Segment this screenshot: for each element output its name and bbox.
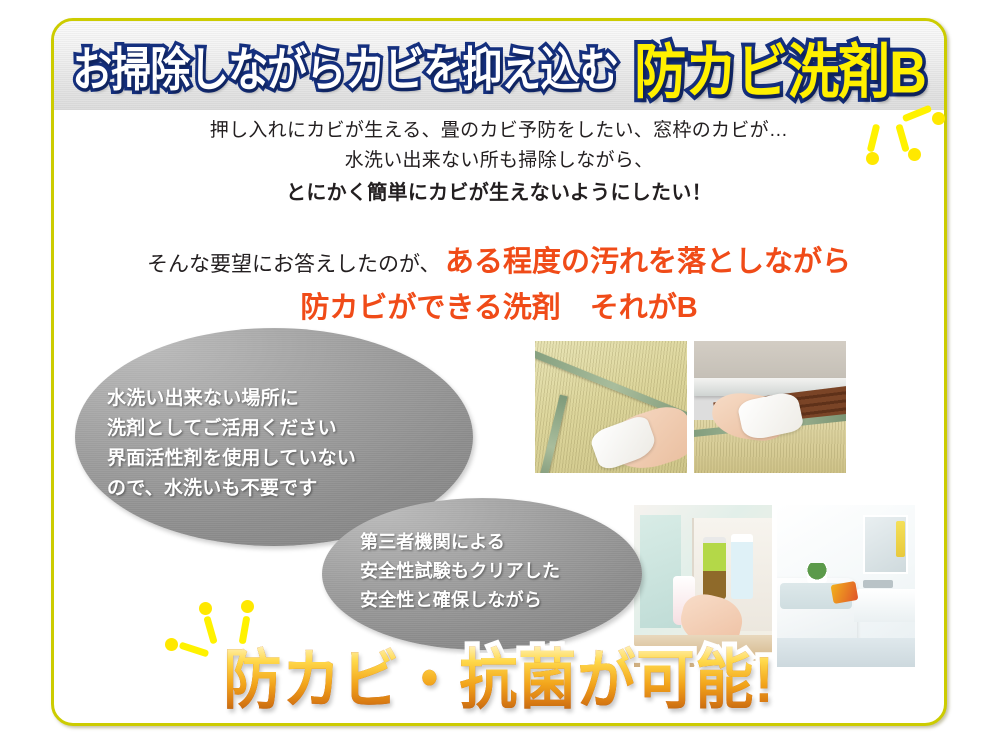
bottom-headline-fill: 防カビ・抗菌が可能! [223,644,774,717]
lead-line-2: 水洗い出来ない所も掃除しながら、 [51,146,947,176]
bottom-headline-text: 防カビ・抗菌が可能! 防カビ・抗菌が可能! [223,627,774,721]
faucet [863,580,893,588]
claim-row-1: そんな要望にお答えしたのが、 ある程度の汚れを落としながら [51,238,947,280]
bubble-line: 安全性と確保しながら [360,586,560,615]
water-bottle [731,534,753,599]
beverage-bottle [703,537,726,599]
bubble-line: 安全性試験もクリアした [360,557,560,586]
bubble-line: ので、水洗いも不要です [107,474,356,504]
page-title-product: 防カビ洗剤B [634,23,926,109]
lead-paragraph: 押し入れにカビが生える、畳のカビ予防をしたい、窓枠のカビが… 水洗い出来ない所も… [51,116,947,210]
page-title-main: お掃除しながらカビを抑え込む [72,32,618,100]
claim-prefix: そんな要望にお答えしたのが、 [147,253,441,276]
bubble-line: 水洗い出来ない場所に [107,384,356,414]
wash-counter [854,589,915,621]
bubble-line: 洗剤としてご活用ください [107,414,356,444]
safety-test-bubble-text: 第三者機関による 安全性試験もクリアした 安全性と確保しながら [360,528,560,615]
claim-block: そんな要望にお答えしたのが、 ある程度の汚れを落としながら 防カビができる洗剤 … [51,238,947,326]
bottom-headline: 防カビ・抗菌が可能! 防カビ・抗菌が可能! [51,627,947,721]
no-rinse-bubble-text: 水洗い出来ない場所に 洗剤としてご活用ください 界面活性剤を使用していない ので… [107,384,356,504]
hanging-towel [896,521,906,557]
header-title: お掃除しながらカビを抑え込む 防カビ洗剤B [51,18,947,114]
outdoor-ground [694,341,846,383]
window-sill-cleaning-photo [694,341,846,473]
lead-line-3: とにかく簡単にカビが生えないようにしたい！ [51,176,947,210]
lead-line-1: 押し入れにカビが生える、畳のカビ予防をしたい、窓枠のカビが… [51,116,947,146]
tatami-cleaning-photo [535,341,687,473]
claim-highlight-2: 防カビができる洗剤 それがB [51,284,947,326]
bubble-line: 第三者機関による [360,528,560,557]
potted-plant [807,563,826,582]
claim-highlight-1: ある程度の汚れを落としながら [445,246,851,278]
bubble-line: 界面活性剤を使用していない [107,444,356,474]
